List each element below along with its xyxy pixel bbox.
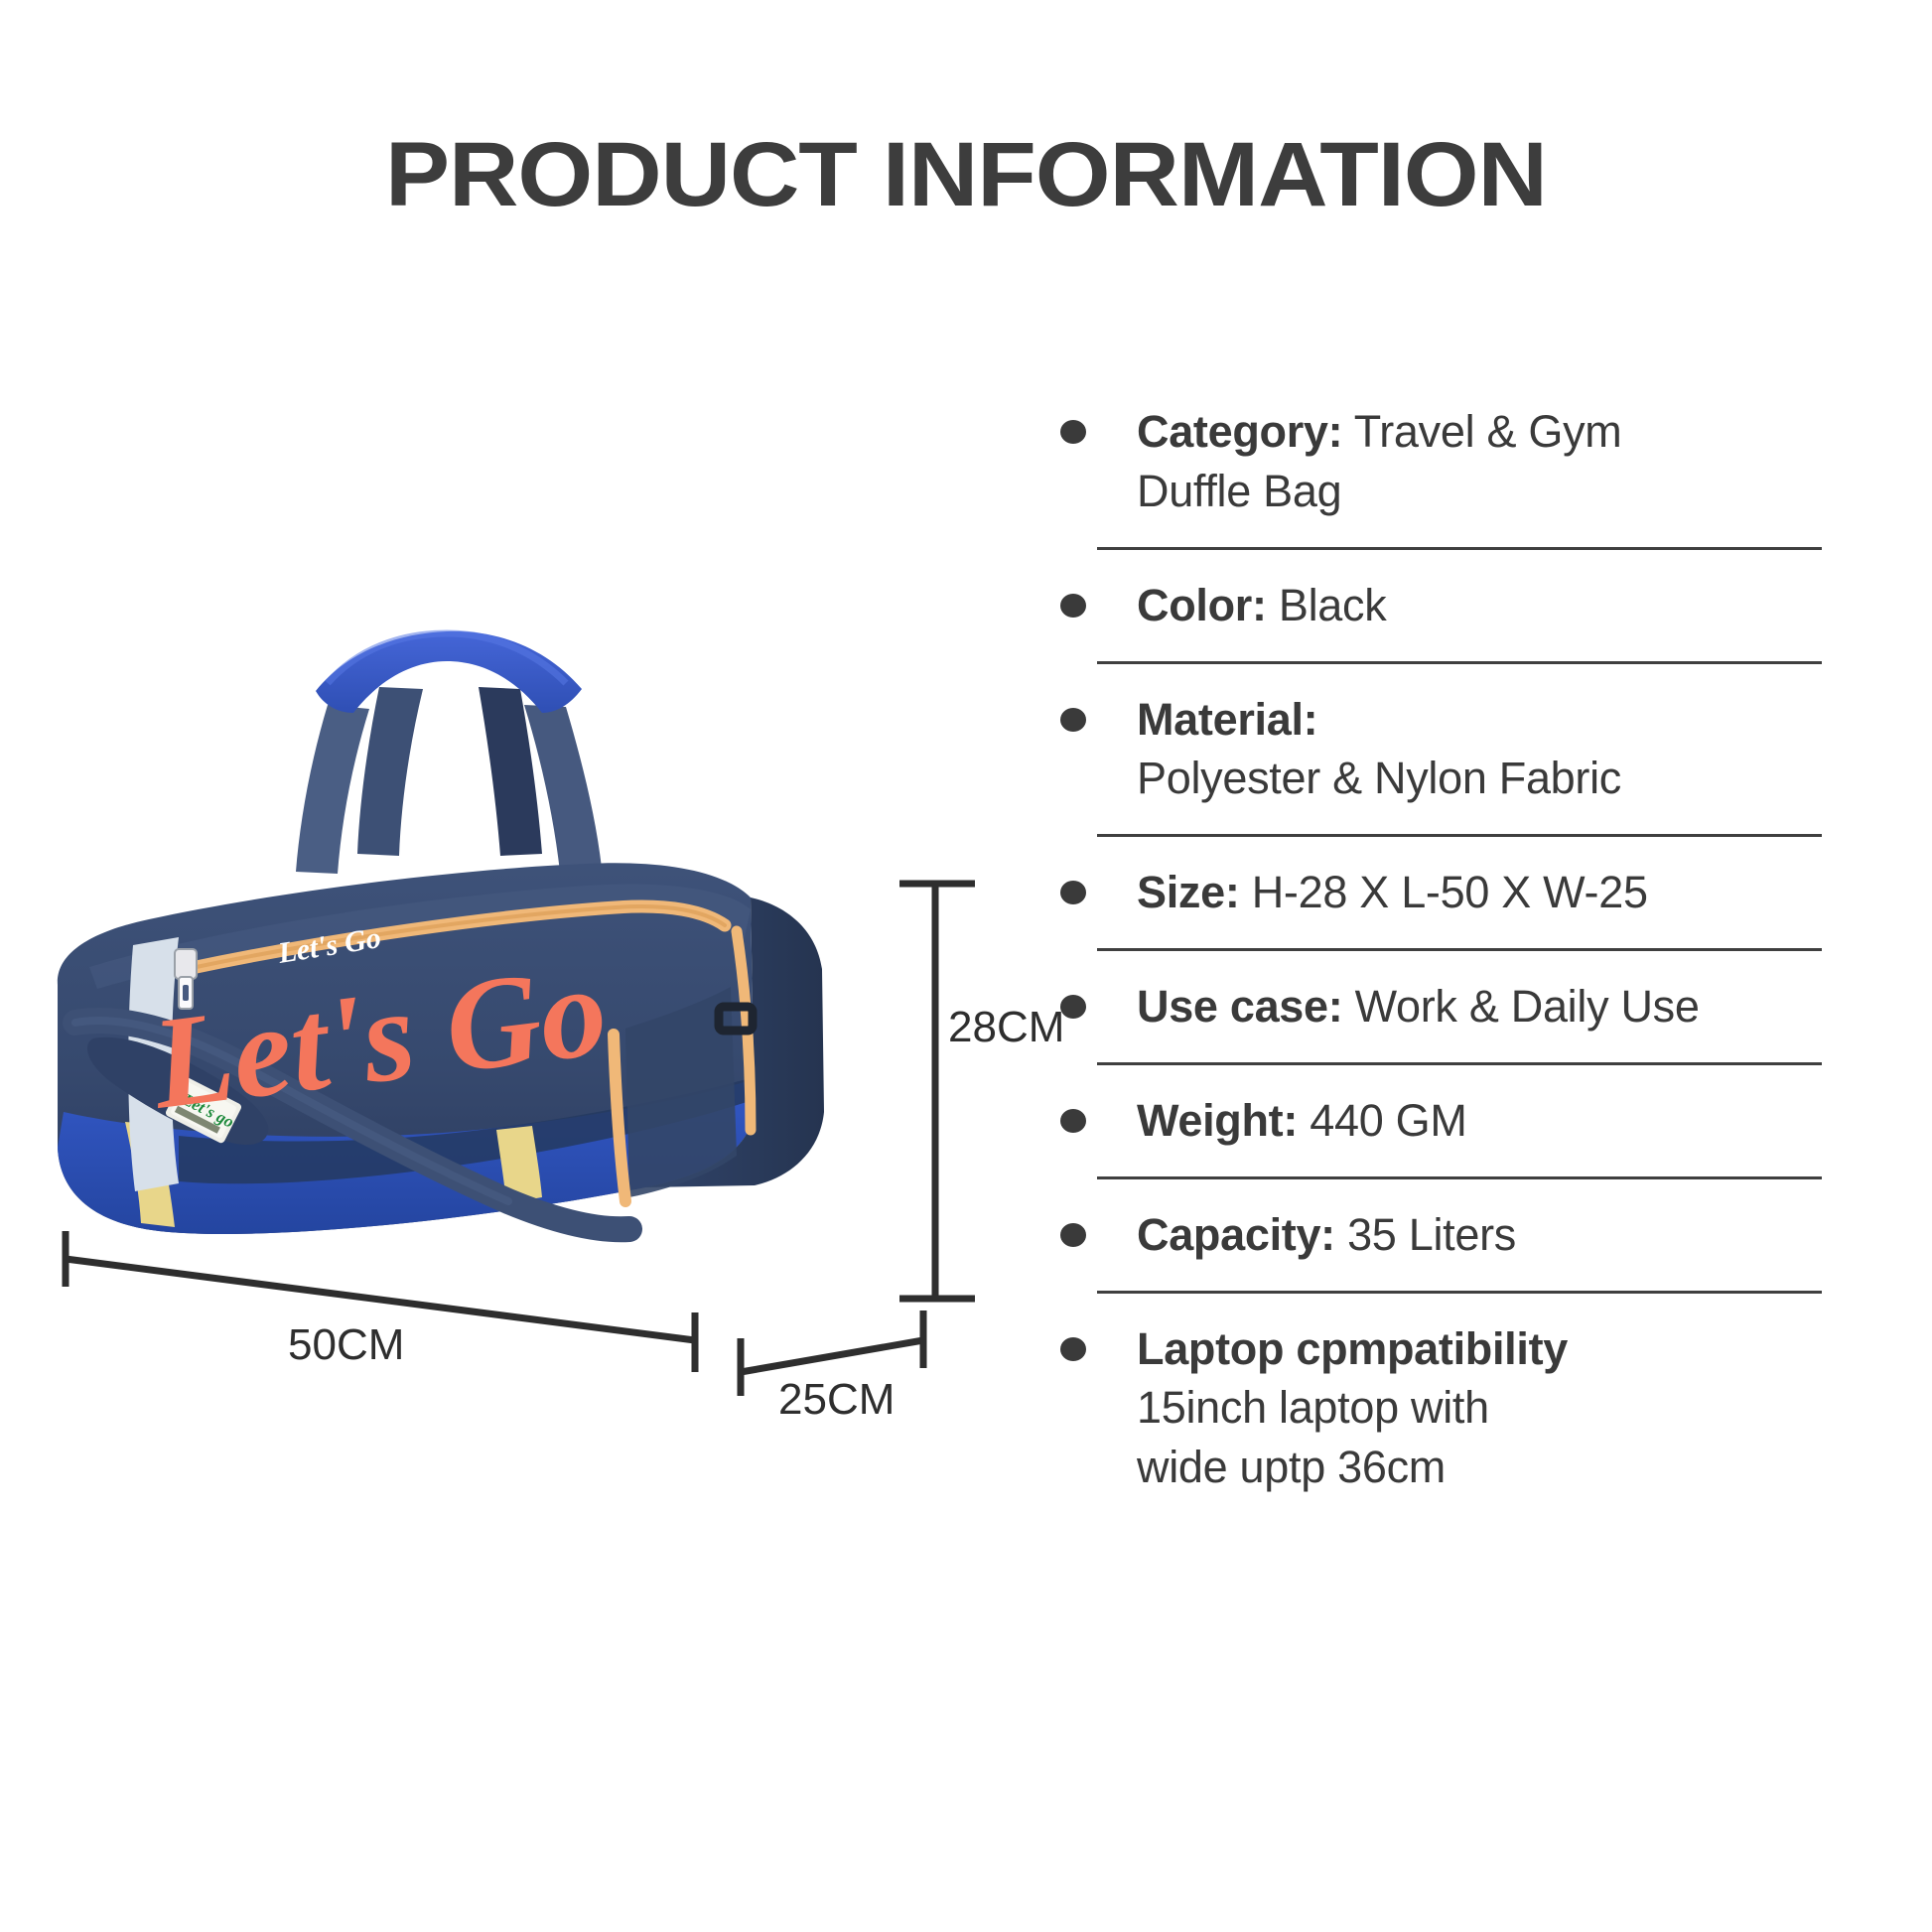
spec-divider [1097,661,1822,664]
spec-item: Weight: 440 GM [1047,1091,1842,1151]
dimension-label-depth: 25CM [778,1375,895,1425]
product-information-page: PRODUCT INFORMATION [0,0,1932,1932]
spec-divider [1097,948,1822,951]
spec-value: Travel & Gym [1342,406,1621,457]
spec-divider [1097,1062,1822,1065]
spec-label: Category: [1137,406,1342,457]
bullet-dot-icon [1060,1223,1086,1247]
spec-value: Work & Daily Use [1342,981,1699,1032]
page-title: PRODUCT INFORMATION [0,127,1932,223]
spec-label: Weight: [1137,1095,1298,1146]
bullet-dot-icon [1060,708,1086,732]
bullet-dot-icon [1060,594,1086,618]
spec-subvalue: wide uptp 36cm [1137,1438,1842,1497]
bullet-dot-icon [1060,1109,1086,1133]
bullet-dot-icon [1060,995,1086,1019]
spec-label: Use case: [1137,981,1342,1032]
spec-item: Laptop cpmpatibility15inch laptop withwi… [1047,1319,1842,1498]
spec-text: Size: H-28 X L-50 X W-25 [1137,863,1842,922]
bullet-dot-icon [1060,1337,1086,1361]
dimension-label-width: 50CM [288,1320,404,1370]
spec-text: Capacity: 35 Liters [1137,1205,1842,1265]
spec-text: Laptop cpmpatibility15inch laptop withwi… [1137,1319,1842,1498]
bullet-dot-icon [1060,420,1086,444]
spec-value: 35 Liters [1335,1209,1516,1260]
spec-item: Color: Black [1047,576,1842,635]
spec-divider [1097,1291,1822,1294]
spec-divider [1097,1176,1822,1179]
duffle-bag-illustration: Let's go Let's Go Let's Go [30,556,1023,1271]
spec-subvalue: Duffle Bag [1137,462,1842,521]
spec-value: H-28 X L-50 X W-25 [1240,867,1648,917]
spec-text: Use case: Work & Daily Use [1137,977,1842,1036]
spec-text: Color: Black [1137,576,1842,635]
spec-divider [1097,547,1822,550]
spec-label: Laptop cpmpatibility [1137,1323,1568,1374]
spec-label: Color: [1137,580,1267,630]
spec-item: Use case: Work & Daily Use [1047,977,1842,1036]
spec-text: Weight: 440 GM [1137,1091,1842,1151]
spec-subvalue: Polyester & Nylon Fabric [1137,749,1842,808]
spec-divider [1097,834,1822,837]
bullet-dot-icon [1060,881,1086,904]
bag-handles [296,631,602,874]
spec-value: Black [1267,580,1387,630]
spec-item: Capacity: 35 Liters [1047,1205,1842,1265]
spec-text: Material:Polyester & Nylon Fabric [1137,690,1842,809]
spec-item: Size: H-28 X L-50 X W-25 [1047,863,1842,922]
spec-text: Category: Travel & GymDuffle Bag [1137,402,1842,521]
specification-list: Category: Travel & GymDuffle BagColor: B… [1047,402,1842,1497]
spec-label: Size: [1137,867,1240,917]
spec-label: Material: [1137,694,1317,745]
spec-label: Capacity: [1137,1209,1335,1260]
spec-item: Material:Polyester & Nylon Fabric [1047,690,1842,809]
spec-item: Category: Travel & GymDuffle Bag [1047,402,1842,521]
product-image: Let's go Let's Go Let's Go [30,556,1023,1271]
spec-value: 440 GM [1298,1095,1466,1146]
spec-subvalue: 15inch laptop with [1137,1378,1842,1438]
